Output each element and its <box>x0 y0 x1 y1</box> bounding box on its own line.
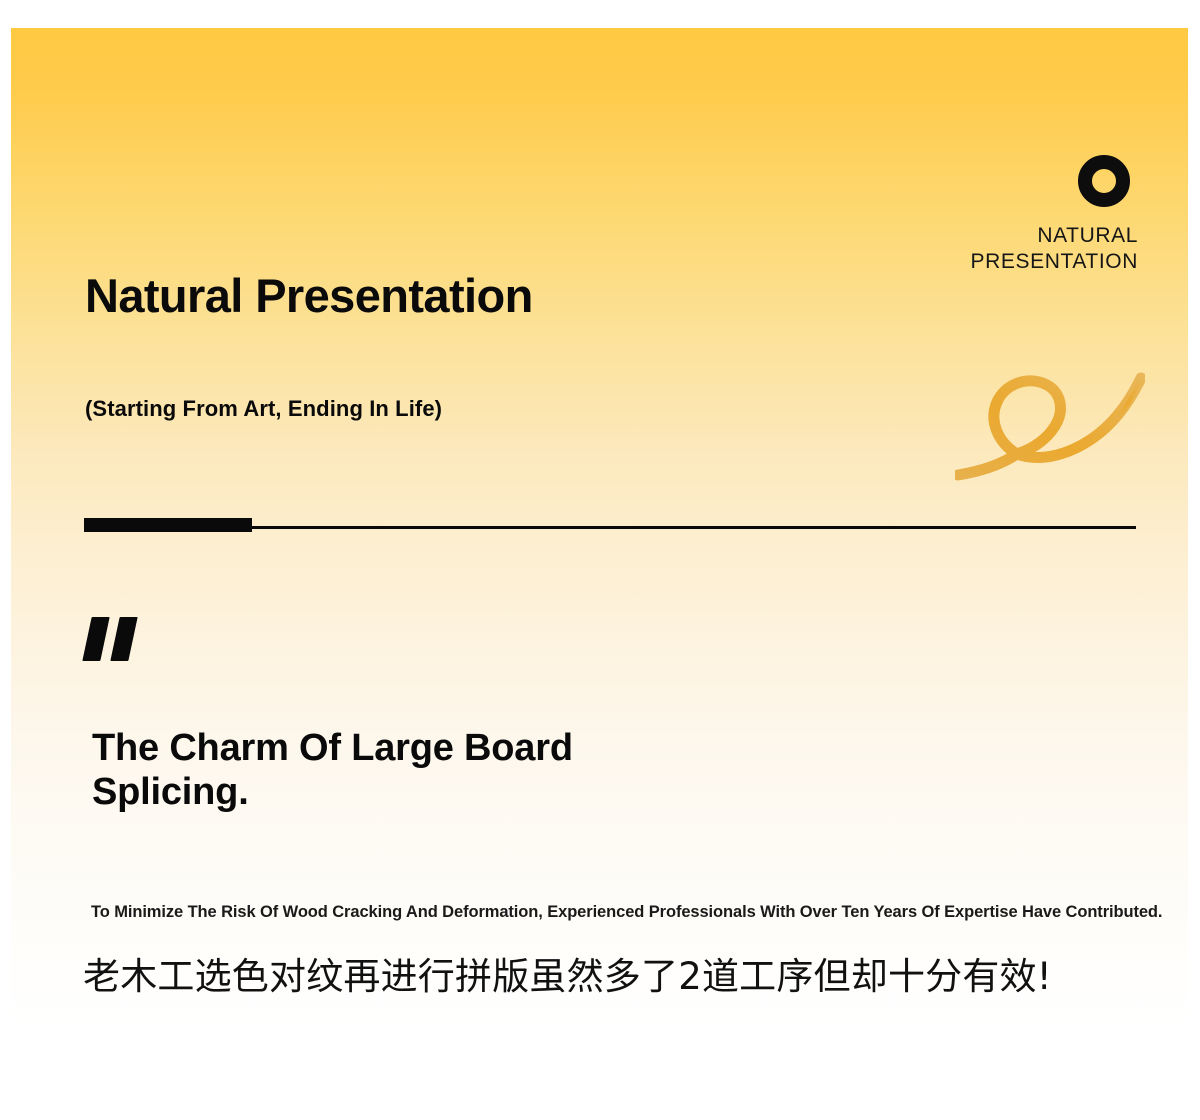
body-text-chinese: 老木工选色对纹再进行拼版虽然多了2道工序但却十分有效! <box>83 946 1052 1000</box>
slide-canvas: NATURAL PRESENTATION Natural Presentatio… <box>11 28 1188 1050</box>
divider-thick-segment <box>84 518 252 532</box>
quote-open-icon <box>85 617 147 663</box>
divider-thin-segment <box>252 526 1136 529</box>
brand-logo: NATURAL PRESENTATION <box>971 155 1138 274</box>
page-title: Natural Presentation <box>85 268 533 323</box>
quote-bar-right <box>110 617 137 661</box>
quote-bar-left <box>82 617 109 661</box>
brand-logo-text: NATURAL PRESENTATION <box>971 223 1138 274</box>
body-text-english: To Minimize The Risk Of Wood Cracking An… <box>91 903 1156 922</box>
section-headline: The Charm Of Large Board Splicing. <box>92 726 573 814</box>
ring-icon <box>1078 155 1130 207</box>
page-subtitle: (Starting From Art, Ending In Life) <box>85 396 442 422</box>
section-divider <box>84 518 1136 534</box>
calligraphic-swoosh-icon <box>955 356 1145 484</box>
